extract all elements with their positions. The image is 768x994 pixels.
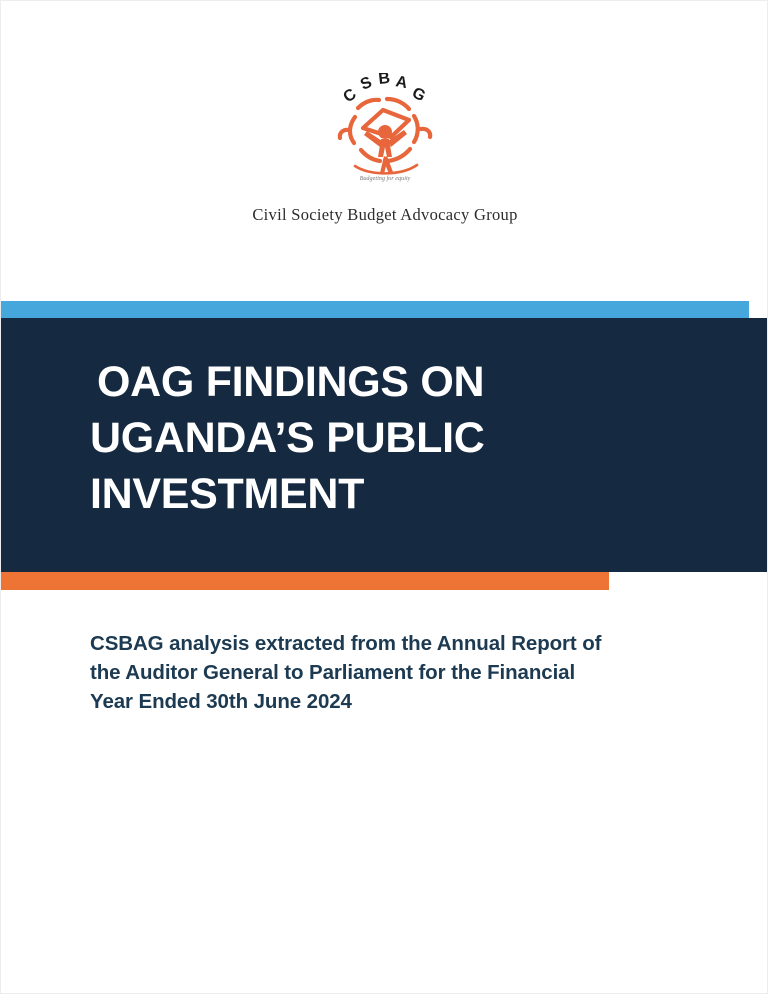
page-title-line-2: UGANDA’S PUBLIC	[90, 410, 690, 466]
logo-letter-c: C	[340, 85, 360, 106]
page-title-line-3: INVESTMENT	[90, 466, 690, 522]
logo-letter-g: G	[409, 84, 428, 105]
organization-name: Civil Society Budget Advocacy Group	[1, 205, 768, 225]
logo-letter-a: A	[394, 73, 409, 92]
logo-block: C S B A G	[1, 73, 768, 225]
banner-accent-bar-blue	[1, 301, 749, 318]
banner-accent-bar-orange	[1, 572, 609, 590]
logo-letter-b: B	[378, 73, 391, 88]
page-subtitle-line-1: CSBAG analysis extracted from the Annual…	[90, 629, 690, 658]
page-subtitle-line-2: the Auditor General to Parliament for th…	[90, 658, 690, 687]
page-title-line-1: OAG FINDINGS ON	[90, 354, 690, 410]
page-subtitle: CSBAG analysis extracted from the Annual…	[90, 629, 690, 716]
logo-tagline: Budgeting for equity	[360, 175, 411, 182]
page-subtitle-line-3: Year Ended 30th June 2024	[90, 687, 690, 716]
csbag-tree-figure-logo: C S B A G	[325, 73, 445, 185]
cover-page: C S B A G	[0, 0, 768, 994]
logo-letter-s: S	[358, 74, 375, 94]
page-title: OAG FINDINGS ON UGANDA’S PUBLIC INVESTME…	[90, 354, 690, 522]
